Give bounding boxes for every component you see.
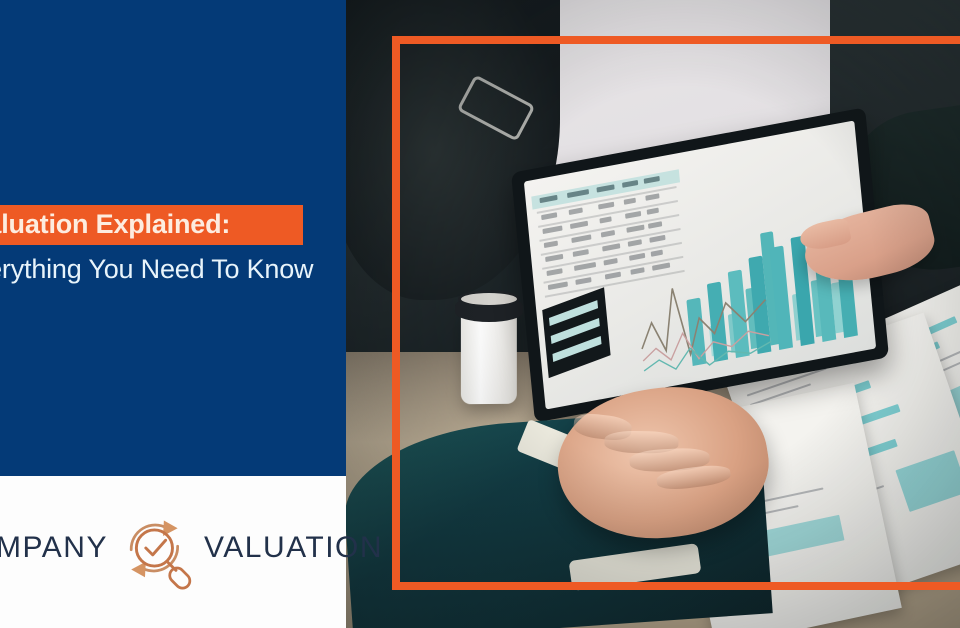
logo-word-company: COMPANY: [0, 531, 108, 565]
headline-block: y Valuation Explained: Everything You Ne…: [0, 205, 346, 285]
coffee-cup-lid-top: [458, 290, 520, 308]
blog-header-banner: y Valuation Explained: Everything You Ne…: [0, 0, 960, 628]
hero-photo: [346, 0, 960, 628]
headline-highlight-box: y Valuation Explained:: [0, 205, 303, 245]
headline-line-2: Everything You Need To Know: [0, 254, 346, 285]
coffee-cup-body: [461, 308, 517, 404]
magnifier-check-refresh-icon: [114, 505, 200, 591]
hero-photo-scene: [346, 0, 960, 628]
headline-line-1: y Valuation Explained:: [0, 209, 303, 239]
logo-word-valuation: VALUATION: [204, 531, 383, 565]
brand-logo[interactable]: COMPANY VALUATION: [0, 498, 348, 598]
